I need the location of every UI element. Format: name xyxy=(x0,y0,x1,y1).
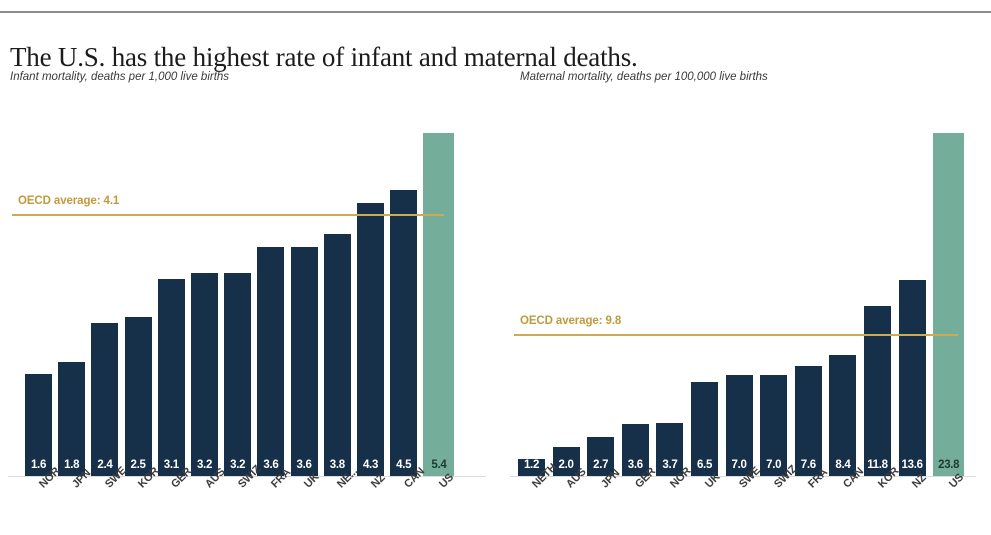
bar-nor: 1.6 xyxy=(25,374,52,476)
bar-uk: 6.5 xyxy=(691,382,718,476)
bar-value-label: 13.6 xyxy=(899,460,926,472)
chart-panel-maternal-mortality: Maternal mortality, deaths per 100,000 l… xyxy=(496,66,991,533)
bar-value-label: 4.3 xyxy=(357,460,384,472)
bar-swiz: 3.2 xyxy=(224,273,251,476)
chart-subtitle-infant: Infant mortality, deaths per 1,000 live … xyxy=(10,71,229,83)
bar-value-label: 3.6 xyxy=(291,460,318,472)
bar-ne: 3.8 xyxy=(324,234,351,476)
bar-us: 23.8 xyxy=(933,133,964,476)
bar-fra: 3.6 xyxy=(257,247,284,476)
chart-subtitle-maternal: Maternal mortality, deaths per 100,000 l… xyxy=(520,71,768,83)
oecd-average-line xyxy=(514,334,958,336)
plot-area-maternal: 1.22.02.73.63.76.57.07.07.68.411.813.623… xyxy=(496,102,991,477)
bar-ger: 3.1 xyxy=(158,279,185,476)
oecd-average-label: OECD average: 4.1 xyxy=(18,195,119,207)
bar-swiz: 7.0 xyxy=(760,375,787,476)
oecd-average-label: OECD average: 9.8 xyxy=(520,315,621,327)
bar-can: 4.5 xyxy=(390,190,417,476)
bar-nor: 3.7 xyxy=(656,423,683,476)
x-axis-labels-infant: NORJPNSWEKORGERAUSSWIZFRAUKNE...NZCANUS xyxy=(0,480,495,535)
bar-swe: 2.4 xyxy=(91,323,118,476)
bar-swe: 7.0 xyxy=(726,375,753,476)
bar-jpn: 1.8 xyxy=(58,362,85,476)
bar-uk: 3.6 xyxy=(291,247,318,476)
bar-can: 8.4 xyxy=(829,355,856,476)
plot-area-infant: 1.61.82.42.53.13.23.23.63.63.84.34.55.4O… xyxy=(0,102,495,477)
bar-value-label: 6.5 xyxy=(691,460,718,472)
charts-container: Infant mortality, deaths per 1,000 live … xyxy=(0,66,991,533)
oecd-average-line xyxy=(12,214,444,216)
bar-nz: 13.6 xyxy=(899,280,926,476)
bar-value-label: 5.4 xyxy=(423,460,454,472)
x-axis-labels-maternal: NETHAUSJPNGERNORUKSWESWIZFRACANKORNZUS xyxy=(496,480,991,535)
bar-nz: 4.3 xyxy=(357,203,384,476)
chart-panel-infant-mortality: Infant mortality, deaths per 1,000 live … xyxy=(0,66,495,533)
bar-us: 5.4 xyxy=(423,133,454,476)
bar-ger: 3.6 xyxy=(622,424,649,476)
top-divider xyxy=(0,11,991,13)
bar-aus: 3.2 xyxy=(191,273,218,476)
bar-fra: 7.6 xyxy=(795,366,822,476)
bar-kor: 2.5 xyxy=(125,317,152,476)
bar-kor: 11.8 xyxy=(864,306,891,476)
bar-value-label: 23.8 xyxy=(933,460,964,472)
